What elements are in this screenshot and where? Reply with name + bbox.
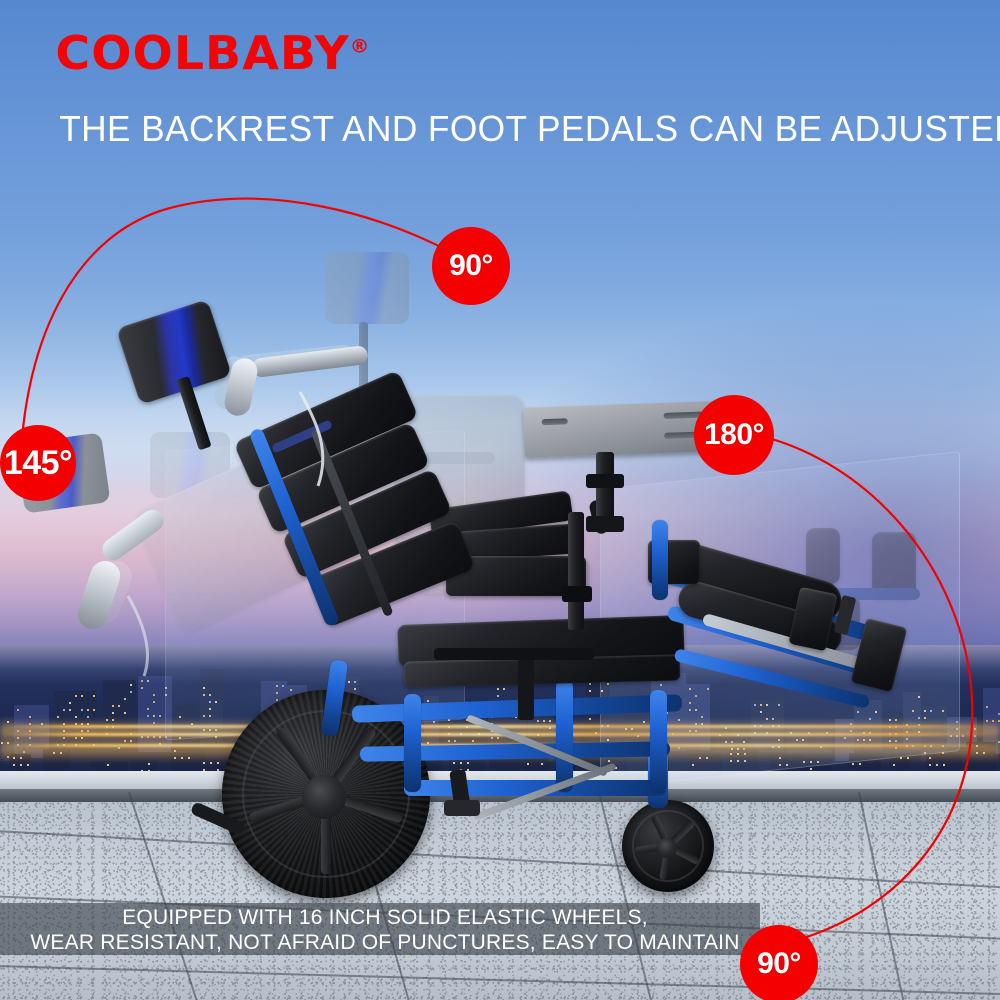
angle-badge-layer: 145°90°180°90° xyxy=(0,0,1000,1000)
angle-badge-label: 180° xyxy=(704,420,764,450)
angle-badge-label: 90° xyxy=(449,251,493,281)
angle-badge-backrest-recline: 145° xyxy=(0,425,76,501)
angle-badge-label: 90° xyxy=(757,949,801,979)
angle-badge-headrest-angle: 90° xyxy=(432,227,510,305)
angle-badge-label: 145° xyxy=(4,446,72,480)
product-marketing-image: 145°90°180°90° COOLBABY® THE BACKREST AN… xyxy=(0,0,1000,1000)
angle-badge-footrest-angle: 90° xyxy=(740,925,818,1000)
angle-badge-tray-rotation: 180° xyxy=(694,395,774,475)
